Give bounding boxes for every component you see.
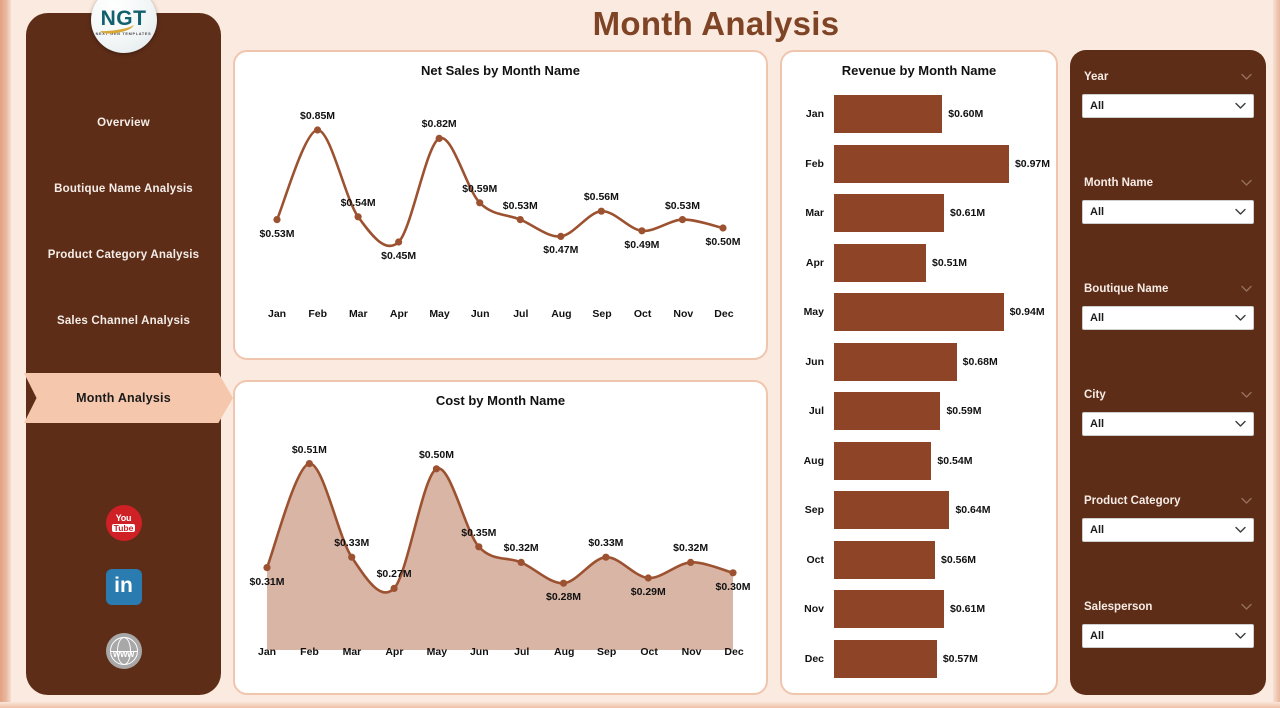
bar-fill[interactable]	[834, 194, 944, 232]
filter-header-year[interactable]: Year	[1082, 68, 1254, 86]
chevron-down-icon	[1241, 603, 1252, 611]
bar-track: $0.97M	[834, 145, 1050, 183]
filter-block-month-name: Month NameAll	[1082, 174, 1254, 262]
data-label: $0.50M	[705, 236, 740, 248]
filter-select-month-name[interactable]: All	[1082, 200, 1254, 224]
website-globe-icon[interactable]: WWW	[106, 633, 142, 669]
data-point[interactable]	[354, 213, 361, 220]
bar-value-label: $0.56M	[941, 554, 976, 566]
sidebar-item-boutique-name-analysis[interactable]: Boutique Name Analysis	[26, 175, 221, 203]
bar-row[interactable]: Aug$0.54M	[782, 441, 1050, 481]
chevron-down-icon[interactable]	[1235, 415, 1246, 433]
sidebar: NGT NEXT GEN TEMPLATES Overview Boutique…	[26, 13, 221, 695]
data-point[interactable]	[598, 208, 605, 215]
filter-value-year: All	[1090, 100, 1104, 112]
bar-row[interactable]: Jan$0.60M	[782, 94, 1050, 134]
chevron-down-icon	[1241, 73, 1252, 81]
filter-collapse-icon[interactable]	[1241, 174, 1252, 192]
chart-card-cost: Cost by Month Name $0.31M$0.51M$0.33M$0.…	[233, 380, 768, 695]
data-point[interactable]	[679, 216, 686, 223]
data-point[interactable]	[518, 559, 525, 566]
sidebar-item-sales-channel-analysis[interactable]: Sales Channel Analysis	[26, 307, 221, 335]
data-point[interactable]	[638, 227, 645, 234]
bar-track: $0.54M	[834, 442, 1050, 480]
filter-collapse-icon[interactable]	[1241, 68, 1252, 86]
bar-track: $0.61M	[834, 194, 1050, 232]
bar-row[interactable]: Oct$0.56M	[782, 540, 1050, 580]
filter-value-month-name: All	[1090, 206, 1104, 218]
sidebar-item-label: Sales Channel Analysis	[57, 315, 190, 327]
sidebar-item-label: Overview	[97, 117, 150, 129]
bar-category-label: Mar	[782, 207, 834, 219]
sidebar-item-month-analysis[interactable]: Month Analysis	[26, 373, 221, 423]
filter-select-year[interactable]: All	[1082, 94, 1254, 118]
bar-fill[interactable]	[834, 392, 940, 430]
data-label: $0.30M	[715, 581, 750, 593]
x-axis-labels: JanFebMarAprMayJunJulAugSepOctNovDec	[235, 308, 766, 320]
data-point[interactable]	[645, 574, 652, 581]
bar-row[interactable]: May$0.94M	[782, 292, 1050, 332]
x-axis-tick-label: Dec	[704, 308, 745, 320]
chart-title-cost: Cost by Month Name	[235, 393, 766, 408]
data-label: $0.51M	[292, 444, 327, 456]
sidebar-item-label: Product Category Analysis	[48, 249, 200, 261]
bar-value-label: $0.60M	[948, 108, 983, 120]
x-axis-tick-label: May	[419, 308, 460, 320]
data-point[interactable]	[436, 135, 443, 142]
bar-row[interactable]: Nov$0.61M	[782, 589, 1050, 629]
bar-track: $0.56M	[834, 541, 1050, 579]
bar-value-label: $0.64M	[955, 504, 990, 516]
bar-row[interactable]: Dec$0.57M	[782, 639, 1050, 679]
chevron-down-icon	[1235, 314, 1246, 322]
filter-collapse-icon[interactable]	[1241, 492, 1252, 510]
bar-fill[interactable]	[834, 293, 1004, 331]
bar-fill[interactable]	[834, 145, 1009, 183]
bar-category-label: May	[782, 306, 834, 318]
data-point[interactable]	[719, 224, 726, 231]
filter-label-product-category: Product Category	[1084, 495, 1181, 507]
filter-label-city: City	[1084, 389, 1106, 401]
bar-fill[interactable]	[834, 640, 937, 678]
bar-track: $0.57M	[834, 640, 1050, 678]
bar-fill[interactable]	[834, 541, 935, 579]
bar-category-label: Sep	[782, 504, 834, 516]
data-point[interactable]	[475, 543, 482, 550]
filter-collapse-icon[interactable]	[1241, 386, 1252, 404]
data-label: $0.47M	[543, 244, 578, 256]
bar-fill[interactable]	[834, 95, 942, 133]
sidebar-item-overview[interactable]: Overview	[26, 109, 221, 137]
linkedin-icon-label: in	[114, 574, 133, 598]
chevron-down-icon	[1235, 632, 1246, 640]
x-axis-tick-label: Aug	[541, 308, 582, 320]
data-point[interactable]	[517, 216, 524, 223]
chevron-down-icon[interactable]	[1235, 521, 1246, 539]
data-label: $0.82M	[422, 118, 457, 130]
chart-plot-cost[interactable]: $0.31M$0.51M$0.33M$0.27M$0.50M$0.35M$0.3…	[235, 408, 766, 666]
bar-category-label: Jun	[782, 356, 834, 368]
data-point[interactable]	[348, 554, 355, 561]
filter-label-boutique-name: Boutique Name	[1084, 283, 1168, 295]
chart-plot-revenue[interactable]: Jan$0.60MFeb$0.97MMar$0.61MApr$0.51MMay$…	[782, 94, 1056, 679]
bar-row[interactable]: Mar$0.61M	[782, 193, 1050, 233]
x-axis-tick-label: Sep	[582, 308, 623, 320]
data-point[interactable]	[263, 564, 270, 571]
bar-track: $0.51M	[834, 244, 1050, 282]
filter-select-product-category[interactable]: All	[1082, 518, 1254, 542]
data-label: $0.33M	[334, 537, 369, 549]
sidebar-item-label: Month Analysis	[76, 391, 171, 405]
bar-row[interactable]: Apr$0.51M	[782, 243, 1050, 283]
data-label: $0.85M	[300, 110, 335, 122]
chevron-down-icon[interactable]	[1235, 203, 1246, 221]
left-edge-decoration	[0, 0, 11, 708]
data-label: $0.29M	[631, 586, 666, 598]
data-point[interactable]	[560, 580, 567, 587]
filter-value-boutique-name: All	[1090, 312, 1104, 324]
filter-header-salesperson[interactable]: Salesperson	[1082, 598, 1254, 616]
page-title: Month Analysis	[232, 5, 1200, 43]
data-point[interactable]	[314, 126, 321, 133]
x-axis-tick-label: Oct	[628, 646, 670, 658]
filter-value-city: All	[1090, 418, 1104, 430]
x-axis-tick-label: Sep	[585, 646, 627, 658]
filter-collapse-icon[interactable]	[1241, 598, 1252, 616]
bar-track: $0.61M	[834, 590, 1050, 628]
bar-fill[interactable]	[834, 442, 931, 480]
x-axis-tick-label: Feb	[297, 308, 338, 320]
filter-block-salesperson: SalespersonAll	[1082, 598, 1254, 686]
data-label: $0.49M	[624, 239, 659, 251]
bar-category-label: Jul	[782, 405, 834, 417]
bar-value-label: $0.59M	[946, 405, 981, 417]
data-label: $0.28M	[546, 591, 581, 603]
x-axis-tick-label: Jun	[458, 646, 500, 658]
sidebar-item-product-category-analysis[interactable]: Product Category Analysis	[26, 241, 221, 269]
chart-card-revenue: Revenue by Month Name Jan$0.60MFeb$0.97M…	[780, 50, 1058, 695]
filter-label-year: Year	[1084, 71, 1108, 83]
filter-block-boutique-name: Boutique NameAll	[1082, 280, 1254, 368]
bar-fill[interactable]	[834, 244, 926, 282]
dashboard-canvas: NGT NEXT GEN TEMPLATES Overview Boutique…	[0, 0, 1280, 708]
data-label: $0.32M	[504, 542, 539, 554]
filter-panel: YearAllMonth NameAllBoutique NameAllCity…	[1070, 50, 1266, 695]
x-axis-tick-label: Aug	[543, 646, 585, 658]
filter-collapse-icon[interactable]	[1241, 280, 1252, 298]
chevron-down-icon	[1235, 102, 1246, 110]
bar-value-label: $0.61M	[950, 603, 985, 615]
chart-title-revenue: Revenue by Month Name	[782, 63, 1056, 78]
filter-block-city: CityAll	[1082, 386, 1254, 474]
data-label: $0.33M	[588, 537, 623, 549]
youtube-icon-line1: You	[116, 514, 132, 523]
bar-value-label: $0.57M	[943, 653, 978, 665]
x-axis-tick-label: Jul	[501, 646, 543, 658]
x-axis-tick-label: Nov	[663, 308, 704, 320]
bar-fill[interactable]	[834, 590, 944, 628]
x-axis-tick-label: Apr	[373, 646, 415, 658]
data-point[interactable]	[306, 460, 313, 467]
bar-track: $0.60M	[834, 95, 1050, 133]
data-point[interactable]	[433, 465, 440, 472]
filter-header-product-category[interactable]: Product Category	[1082, 492, 1254, 510]
bar-category-label: Nov	[782, 603, 834, 615]
x-axis-tick-label: Jun	[460, 308, 501, 320]
data-label: $0.31M	[249, 576, 284, 588]
filter-block-product-category: Product CategoryAll	[1082, 492, 1254, 580]
bar-category-label: Jan	[782, 108, 834, 120]
bar-category-label: Aug	[782, 455, 834, 467]
filter-label-salesperson: Salesperson	[1084, 601, 1152, 613]
bar-track: $0.94M	[834, 293, 1050, 331]
bar-value-label: $0.54M	[937, 455, 972, 467]
youtube-icon[interactable]: You Tube	[106, 505, 142, 541]
bar-row[interactable]: Feb$0.97M	[782, 144, 1050, 184]
bar-fill[interactable]	[834, 343, 957, 381]
data-label: $0.27M	[377, 568, 412, 580]
bar-track: $0.59M	[834, 392, 1050, 430]
chevron-down-icon	[1241, 179, 1252, 187]
chevron-down-icon	[1235, 420, 1246, 428]
data-point[interactable]	[602, 554, 609, 561]
bar-row[interactable]: Jun$0.68M	[782, 342, 1050, 382]
x-axis-tick-label: Mar	[338, 308, 379, 320]
data-point[interactable]	[687, 559, 694, 566]
sidebar-nav: Overview Boutique Name Analysis Product …	[26, 109, 221, 449]
chevron-down-icon	[1235, 526, 1246, 534]
globe-icon-label: WWW	[113, 650, 134, 659]
youtube-icon-line2: Tube	[112, 524, 136, 533]
filter-header-month-name[interactable]: Month Name	[1082, 174, 1254, 192]
bar-category-label: Feb	[782, 158, 834, 170]
data-label: $0.59M	[462, 183, 497, 195]
data-label: $0.56M	[584, 191, 619, 203]
filter-select-salesperson[interactable]: All	[1082, 624, 1254, 648]
bar-value-label: $0.68M	[963, 356, 998, 368]
filter-header-boutique-name[interactable]: Boutique Name	[1082, 280, 1254, 298]
brand-logo: NGT NEXT GEN TEMPLATES	[91, 0, 157, 53]
chevron-down-icon[interactable]	[1235, 97, 1246, 115]
x-axis-tick-label: Nov	[670, 646, 712, 658]
filter-value-salesperson: All	[1090, 630, 1104, 642]
bottom-edge-decoration	[0, 702, 1280, 708]
chevron-down-icon	[1235, 208, 1246, 216]
x-axis-tick-label: Jan	[257, 308, 298, 320]
data-label: $0.32M	[673, 542, 708, 554]
bar-row[interactable]: Jul$0.59M	[782, 391, 1050, 431]
filter-label-month-name: Month Name	[1084, 177, 1153, 189]
data-point[interactable]	[557, 233, 564, 240]
data-label: $0.53M	[259, 228, 294, 240]
chevron-down-icon[interactable]	[1235, 627, 1246, 645]
bar-category-label: Apr	[782, 257, 834, 269]
filter-value-product-category: All	[1090, 524, 1104, 536]
bar-track: $0.68M	[834, 343, 1050, 381]
filter-header-city[interactable]: City	[1082, 386, 1254, 404]
chevron-down-icon	[1241, 391, 1252, 399]
x-axis-tick-label: Oct	[622, 308, 663, 320]
x-axis-tick-label: Jan	[246, 646, 288, 658]
bar-category-label: Oct	[782, 554, 834, 566]
data-point[interactable]	[390, 585, 397, 592]
chevron-down-icon	[1241, 285, 1252, 293]
data-label: $0.35M	[461, 527, 496, 539]
bar-value-label: $0.51M	[932, 257, 967, 269]
x-axis-labels: JanFebMarAprMayJunJulAugSepOctNovDec	[235, 646, 766, 658]
x-axis-tick-label: Dec	[713, 646, 755, 658]
data-point[interactable]	[395, 238, 402, 245]
x-axis-tick-label: Feb	[288, 646, 330, 658]
chevron-down-icon[interactable]	[1235, 309, 1246, 327]
sidebar-item-label: Boutique Name Analysis	[54, 183, 193, 195]
series-line	[277, 130, 723, 246]
x-axis-tick-label: Jul	[500, 308, 541, 320]
bar-value-label: $0.94M	[1010, 306, 1045, 318]
data-label: $0.50M	[419, 449, 454, 461]
social-links: You Tube in WWW	[26, 505, 221, 669]
bar-fill[interactable]	[834, 491, 949, 529]
bar-track: $0.64M	[834, 491, 1050, 529]
x-axis-tick-label: May	[416, 646, 458, 658]
chart-title-net-sales: Net Sales by Month Name	[235, 63, 766, 78]
chart-plot-net-sales[interactable]: $0.53M$0.85M$0.54M$0.45M$0.82M$0.59M$0.5…	[235, 78, 766, 330]
x-axis-tick-label: Mar	[331, 646, 373, 658]
bar-value-label: $0.97M	[1015, 158, 1050, 170]
data-label: $0.53M	[503, 200, 538, 212]
bar-row[interactable]: Sep$0.64M	[782, 490, 1050, 530]
logo-text: NGT	[101, 8, 147, 29]
bar-category-label: Dec	[782, 653, 834, 665]
bar-value-label: $0.61M	[950, 207, 985, 219]
data-point[interactable]	[729, 569, 736, 576]
data-label: $0.45M	[381, 250, 416, 262]
chevron-down-icon	[1241, 497, 1252, 505]
data-point[interactable]	[273, 216, 280, 223]
data-label: $0.53M	[665, 200, 700, 212]
x-axis-tick-label: Apr	[379, 308, 420, 320]
data-point[interactable]	[476, 199, 483, 206]
linkedin-icon[interactable]: in	[106, 569, 142, 605]
filter-select-boutique-name[interactable]: All	[1082, 306, 1254, 330]
filter-select-city[interactable]: All	[1082, 412, 1254, 436]
chart-card-net-sales: Net Sales by Month Name $0.53M$0.85M$0.5…	[233, 50, 768, 360]
right-edge-decoration	[1273, 0, 1280, 708]
data-label: $0.54M	[341, 197, 376, 209]
filter-block-year: YearAll	[1082, 68, 1254, 156]
